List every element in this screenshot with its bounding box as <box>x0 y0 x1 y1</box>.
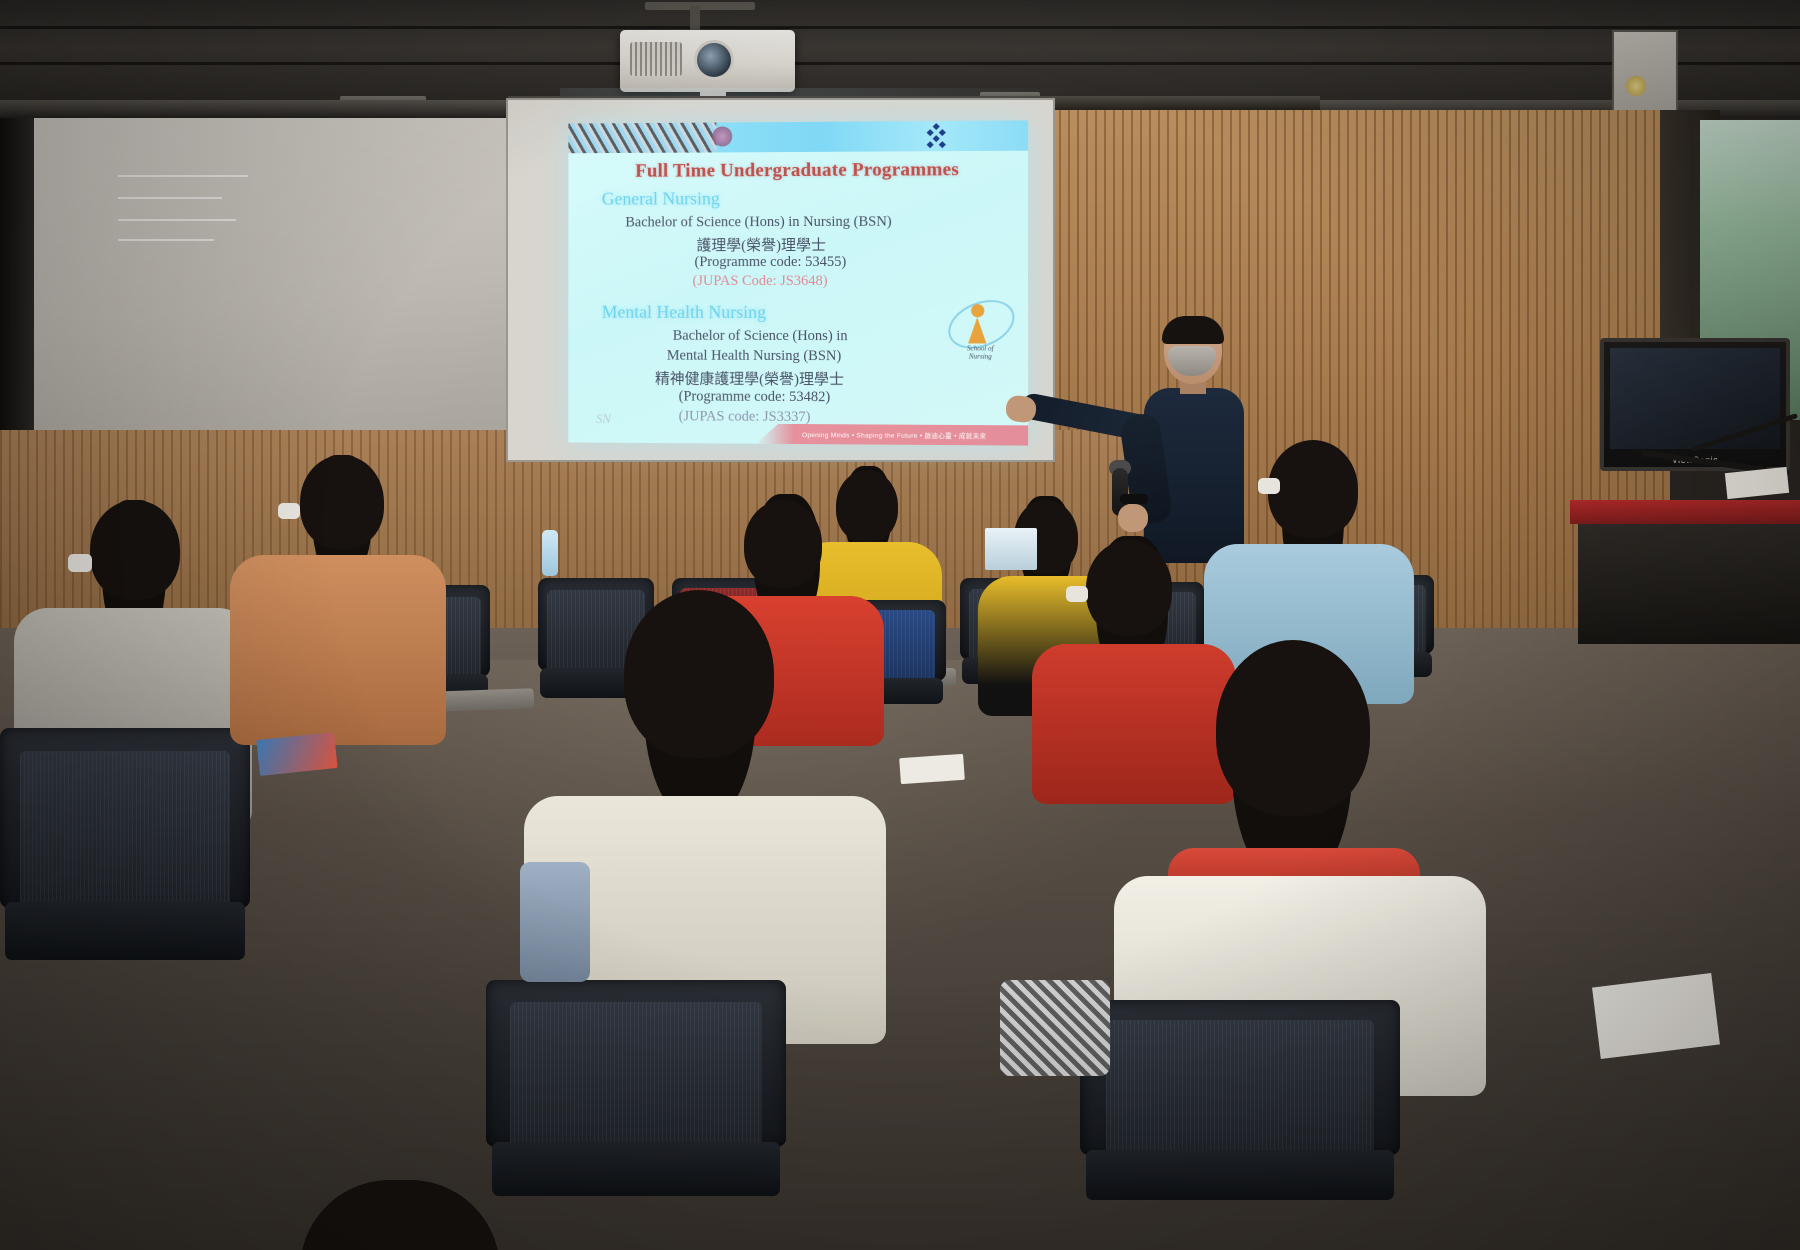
whiteboard-marks <box>118 175 248 241</box>
school-logo-line1: School of <box>941 344 1020 352</box>
patterned-bag <box>1000 980 1110 1076</box>
student-face-mask <box>68 554 92 572</box>
student-chair <box>486 980 786 1250</box>
slide-line: 精神健康護理學(榮譽)理學士 <box>655 367 844 389</box>
slide-section-heading-mental-health-nursing: Mental Health Nursing <box>602 302 766 323</box>
presenter-hair <box>1162 316 1224 344</box>
presentation-slide: Full Time Undergraduate Programmes Gener… <box>568 120 1028 445</box>
paper-sheet <box>899 754 965 784</box>
slide-line: 護理學(榮譽)理學士 <box>696 234 826 255</box>
lecture-room-photo: Full Time Undergraduate Programmes Gener… <box>0 0 1800 1250</box>
water-bottle <box>542 530 558 576</box>
projector-vent <box>630 42 682 76</box>
hkmu-logo-icon <box>925 124 949 148</box>
slide-line-jupas-code: (JUPAS code: JS3337) <box>679 408 811 426</box>
student-shirt-orange <box>230 555 446 745</box>
monitor-screen <box>1610 348 1780 449</box>
student-head <box>1268 440 1358 538</box>
student-face-mask <box>1258 478 1280 494</box>
slide-line: Bachelor of Science (Hons) in <box>673 328 848 345</box>
ceiling-projector <box>620 30 795 92</box>
student-head <box>1216 640 1370 816</box>
slide-banner-orb-graphic <box>712 126 732 146</box>
slide-line: (Programme code: 53455) <box>695 254 847 271</box>
paper-sheet-floor <box>1592 973 1720 1059</box>
student-head <box>1086 540 1172 636</box>
left-wall-panel <box>0 118 510 448</box>
student-head <box>744 500 822 588</box>
student-head <box>300 1180 500 1250</box>
slide-line: Mental Health Nursing (BSN) <box>667 348 841 366</box>
student-face-mask <box>278 503 300 519</box>
left-wall-edge <box>0 118 34 448</box>
school-logo-line2: Nursing <box>941 352 1020 360</box>
wall-speaker-box <box>1612 30 1678 120</box>
slide-line: Bachelor of Science (Hons) in Nursing (B… <box>625 214 891 232</box>
student-head <box>90 500 180 600</box>
backpack <box>520 862 590 982</box>
student <box>240 455 440 755</box>
paper-sheet <box>1725 467 1789 499</box>
slide-banner <box>568 120 1028 153</box>
paper-stack <box>985 528 1037 570</box>
slide-corner-mark: SN <box>596 411 611 427</box>
slide-line-jupas-code: (JUPAS Code: JS3648) <box>693 273 828 290</box>
lectern-desk-body <box>1578 524 1800 644</box>
slide-title: Full Time Undergraduate Programmes <box>568 159 1028 183</box>
student <box>300 1180 500 1250</box>
student-head <box>300 455 384 549</box>
student-chair <box>1080 1000 1400 1250</box>
student-face-mask <box>1066 586 1088 602</box>
slide-footer-band: Opening Minds • Shaping the Future • 啟迪心… <box>756 424 1028 446</box>
slide-line: (Programme code: 53482) <box>679 388 831 406</box>
slide-banner-hatch-graphic <box>568 123 716 154</box>
school-of-nursing-logo-icon: School of Nursing <box>943 294 1018 369</box>
projector-lens <box>694 40 734 80</box>
slide-section-heading-general-nursing: General Nursing <box>602 188 720 209</box>
slide-footer-tagline: Opening Minds • Shaping the Future • 啟迪心… <box>802 429 986 440</box>
projector-mount-plate <box>645 2 755 10</box>
student-chair <box>0 728 250 1018</box>
student-head <box>624 590 774 758</box>
lectern-desk-top <box>1570 500 1800 524</box>
